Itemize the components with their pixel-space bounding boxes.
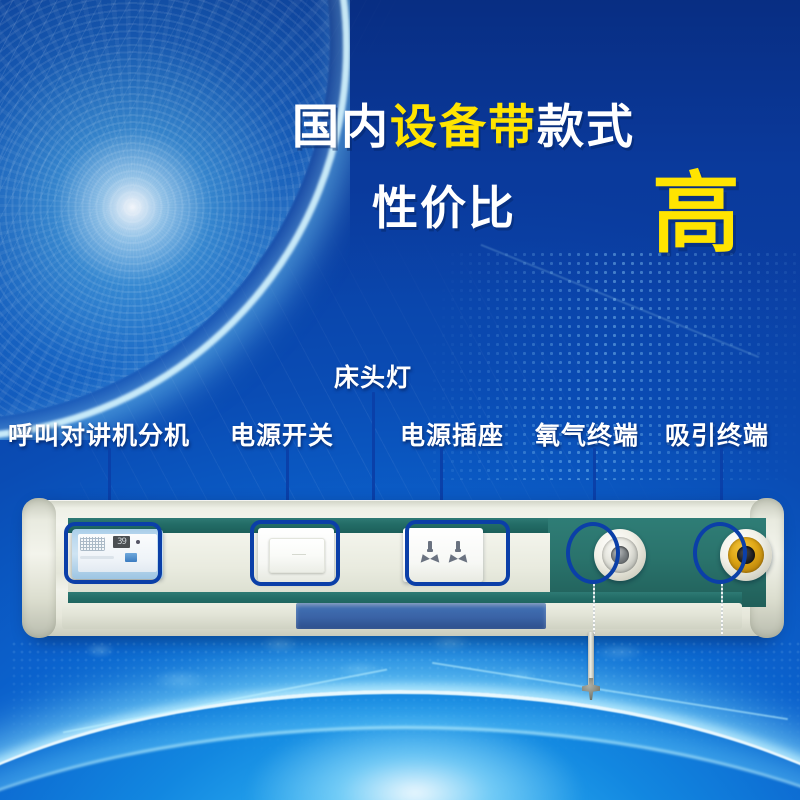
bed-lamp-diffuser[interactable] (296, 603, 546, 629)
highlight-box-socket (405, 520, 510, 586)
headline-part-3: 款式 (537, 100, 635, 155)
callout-label-oxygen-terminal: 氧气终端 (535, 416, 639, 452)
callout-label-suction-terminal: 吸引终端 (665, 416, 769, 452)
highlight-box-oxygen (566, 522, 620, 584)
headline-part-1: 国内 (292, 100, 390, 155)
promo-image-canvas: 国内设备带款式 性价比 高 呼叫对讲机分机 电源开关 床头灯 电源插座 氧气终端… (0, 0, 800, 800)
headline-primary: 国内设备带款式 (292, 88, 635, 157)
headline-part-2: 设备带 (390, 100, 537, 155)
unit-end-cap-left (22, 498, 56, 638)
highlight-box-switch (250, 520, 340, 586)
callout-label-power-socket: 电源插座 (400, 416, 504, 452)
headline-accent-word: 高 (652, 143, 742, 270)
suction-terminal-cord (721, 580, 723, 636)
oxygen-terminal-cord (593, 580, 595, 636)
highlight-box-intercom (64, 522, 162, 584)
callout-label-bed-lamp: 床头灯 (334, 358, 412, 394)
highlight-box-suction (693, 522, 747, 584)
callout-label-intercom: 呼叫对讲机分机 (8, 416, 190, 452)
callout-label-power-switch: 电源开关 (230, 416, 334, 452)
headline-secondary: 性价比 (372, 172, 516, 238)
